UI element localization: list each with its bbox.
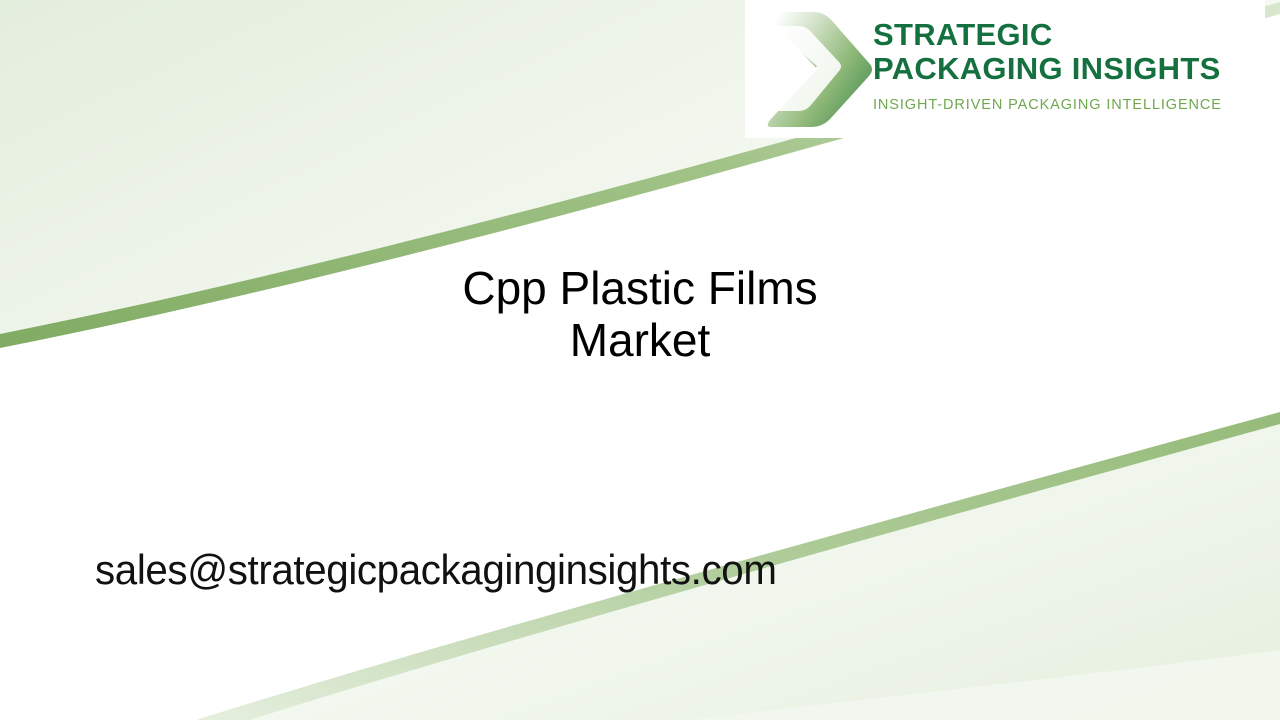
logo-tagline: INSIGHT-DRIVEN PACKAGING INTELLIGENCE [873,97,1263,113]
page-title-line-2: Market [570,314,711,366]
wedge-bottom-right-soft-band [690,650,1280,720]
logo-name-line-2: PACKAGING INSIGHTS [873,52,1263,86]
page-title-line-1: Cpp Plastic Films [462,262,817,314]
logo-name-line-1: STRATEGIC [873,18,1263,52]
title-slide: STRATEGIC PACKAGING INSIGHTS INSIGHT-DRI… [0,0,1280,720]
brand-logo: STRATEGIC PACKAGING INSIGHTS INSIGHT-DRI… [745,0,1265,138]
chevron-right-icon [765,8,875,130]
page-title: Cpp Plastic Films Market [390,262,890,366]
contact-email[interactable]: sales@strategicpackaginginsights.com [95,545,777,595]
logo-wordmark: STRATEGIC PACKAGING INSIGHTS INSIGHT-DRI… [873,18,1263,113]
